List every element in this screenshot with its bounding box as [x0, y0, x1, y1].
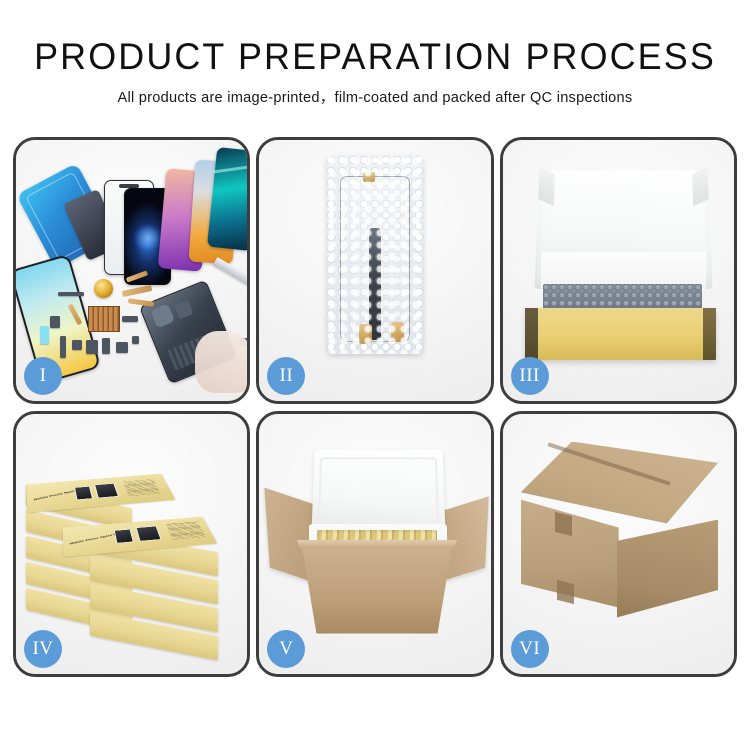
chip-grid-part: [88, 306, 120, 332]
process-step-panel-3: III: [500, 137, 737, 404]
sealed-carton: [517, 442, 720, 641]
tray-kraft-body: [525, 308, 716, 360]
step-badge-3: III: [511, 357, 549, 395]
spare-part-strip: [58, 292, 84, 296]
step-badge-2: II: [267, 357, 305, 395]
process-step-grid: I II: [13, 137, 737, 677]
foam-box-lid: [312, 449, 446, 533]
spare-part-bracket: [86, 340, 98, 354]
spare-part-screw: [132, 336, 139, 344]
box-spec-lines-back: [123, 479, 160, 496]
box-window-front-2: [136, 525, 162, 541]
flex-cable-a: [122, 285, 153, 297]
step-badge-1: I: [24, 357, 62, 395]
spare-part-pin: [60, 336, 66, 358]
box-window-front-1: [114, 529, 134, 543]
open-kraft-tray: [519, 168, 718, 361]
carton-side-face: [617, 520, 718, 618]
header: PRODUCT PREPARATION PROCESS All products…: [0, 38, 750, 107]
spare-part-clip: [102, 338, 110, 354]
page-title: PRODUCT PREPARATION PROCESS: [11, 38, 739, 75]
process-step-panel-4: Mobile Phone Spare Parts Mobile Phone Sp…: [13, 411, 250, 678]
technician-hand: [195, 331, 250, 393]
spare-part-screw-right-2: [248, 348, 250, 355]
bubble-texture-overlay: [327, 156, 423, 354]
spare-part-connector: [50, 316, 60, 328]
step-badge-4: IV: [24, 630, 62, 668]
spare-part-shield: [122, 316, 138, 322]
spare-part-button: [72, 340, 82, 350]
process-step-panel-5: V: [256, 411, 493, 678]
process-step-panel-2: II: [256, 137, 493, 404]
spare-part-camera-module: [116, 342, 128, 353]
spare-part-glass-chip: [40, 326, 49, 344]
page-subtitle: All products are image-printed，film-coat…: [0, 86, 750, 107]
bubble-wrap-pouch: [327, 156, 423, 354]
carton-with-foam-box: [269, 440, 480, 649]
box-window-back-2: [94, 483, 119, 498]
process-step-panel-1: I: [13, 137, 250, 404]
speaker-coil-part: [94, 279, 113, 298]
box-spec-lines-front: [166, 521, 206, 539]
carton-body: [297, 548, 456, 634]
stacked-yellow-boxes: Mobile Phone Spare Parts Mobile Phone Sp…: [22, 436, 241, 663]
step-badge-6: VI: [511, 630, 549, 668]
tweezers-tool: [213, 257, 250, 288]
product-preparation-infographic: PRODUCT PREPARATION PROCESS All products…: [0, 0, 750, 750]
carton-tape-upper: [555, 511, 572, 535]
box-window-back-1: [74, 486, 93, 500]
carton-tape-lower: [557, 579, 574, 603]
process-step-panel-6: VI: [500, 411, 737, 678]
